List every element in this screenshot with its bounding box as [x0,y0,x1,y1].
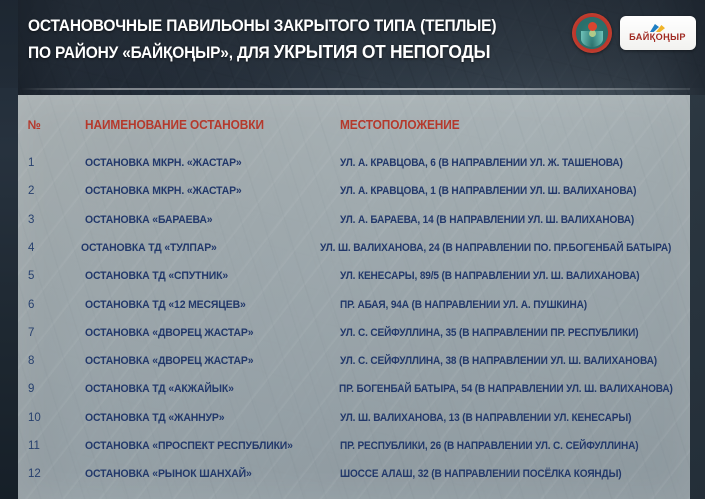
row-location: УЛ. Ш. ВАЛИХАНОВА, 13 (В НАПРАВЛЕНИИ УЛ.… [340,412,673,424]
row-number: 1 [18,157,85,169]
row-stop-name: ОСТАНОВКА ТД «ТУЛПАР» [81,242,308,254]
row-stop-name: ОСТАНОВКА «БАРАЕВА» [85,214,327,226]
row-number: 8 [18,355,85,367]
row-location: ПР. АБАЯ, 94А (В НАПРАВЛЕНИИ УЛ. А. ПУШК… [340,299,673,311]
table-row: 1ОСТАНОВКА МКРН. «ЖАСТАР»УЛ. А. КРАВЦОВА… [18,149,690,177]
row-location: ШОССЕ АЛАШ, 32 (В НАПРАВЛЕНИИ ПОСЁЛКА КО… [340,468,673,480]
title-line-2: ПО РАЙОНУ «БАЙҚОҢЫР», ДЛЯ УКРЫТИЯ ОТ НЕП… [28,39,536,66]
row-number: 7 [18,327,85,339]
right-edge-strip [690,95,705,499]
logo-group: БАЙҚОҢЫР [572,13,696,53]
table-row: 2ОСТАНОВКА МКРН. «ЖАСТАР»УЛ. А. КРАВЦОВА… [18,177,690,205]
row-location: УЛ. С. СЕЙФУЛЛИНА, 38 (В НАПРАВЛЕНИИ УЛ.… [340,355,673,367]
row-location: УЛ. А. КРАВЦОВА, 6 (В НАПРАВЛЕНИИ УЛ. Ж.… [340,157,673,169]
row-stop-name: ОСТАНОВКА ТД «12 МЕСЯЦЕВ» [85,299,327,311]
poster-root: ОСТАНОВОЧНЫЕ ПАВИЛЬОНЫ ЗАКРЫТОГО ТИПА (Т… [0,0,705,499]
baikonur-logo-text: БАЙҚОҢЫР [630,32,687,43]
row-stop-name: ОСТАНОВКА «ПРОСПЕКТ РЕСПУБЛИКИ» [85,440,327,452]
table-row: 4ОСТАНОВКА ТД «ТУЛПАР»УЛ. Ш. ВАЛИХАНОВА,… [18,234,690,262]
table-row: 8ОСТАНОВКА «ДВОРЕЦ ЖАСТАР»УЛ. С. СЕЙФУЛЛ… [18,347,690,375]
table-row: 3ОСТАНОВКА «БАРАЕВА»УЛ. А. БАРАЕВА, 14 (… [18,206,690,234]
row-number: 3 [18,214,85,226]
row-location: УЛ. КЕНЕСАРЫ, 89/5 (В НАПРАВЛЕНИИ УЛ. Ш.… [340,270,673,282]
column-header-stop-name: НАИМЕНОВАНИЕ ОСТАНОВКИ [85,118,327,132]
baikonur-bird-icon [649,23,667,32]
table-row: 10ОСТАНОВКА ТД «ЖАННУР»УЛ. Ш. ВАЛИХАНОВА… [18,404,690,432]
page-title: ОСТАНОВОЧНЫЕ ПАВИЛЬОНЫ ЗАКРЫТОГО ТИПА (Т… [28,13,568,66]
header-divider [18,88,690,90]
title-line-1: ОСТАНОВОЧНЫЕ ПАВИЛЬОНЫ ЗАКРЫТОГО ТИПА (Т… [28,13,536,39]
table-header-row: №НАИМЕНОВАНИЕ ОСТАНОВКИМЕСТОПОЛОЖЕНИЕ [18,111,690,139]
table-panel: №НАИМЕНОВАНИЕ ОСТАНОВКИМЕСТОПОЛОЖЕНИЕ1ОС… [18,95,690,499]
row-location: УЛ. С. СЕЙФУЛЛИНА, 35 (В НАПРАВЛЕНИИ ПР.… [340,327,673,339]
row-number: 4 [18,242,81,254]
header-band: ОСТАНОВОЧНЫЕ ПАВИЛЬОНЫ ЗАКРЫТОГО ТИПА (Т… [0,0,705,88]
row-stop-name: ОСТАНОВКА ТД «АКЖАЙЫК» [85,383,326,395]
row-number: 6 [18,299,85,311]
table-row: 12ОСТАНОВКА «РЫНОК ШАНХАЙ»ШОССЕ АЛАШ, 32… [18,460,690,488]
row-stop-name: ОСТАНОВКА «ДВОРЕЦ ЖАСТАР» [85,355,327,367]
row-number: 9 [18,383,85,395]
table-row: 5ОСТАНОВКА ТД «СПУТНИК»УЛ. КЕНЕСАРЫ, 89/… [18,262,690,290]
row-stop-name: ОСТАНОВКА МКРН. «ЖАСТАР» [85,157,327,169]
row-stop-name: ОСТАНОВКА «РЫНОК ШАНХАЙ» [85,468,327,480]
row-number: 5 [18,270,85,282]
row-location: УЛ. А. КРАВЦОВА, 1 (В НАПРАВЛЕНИИ УЛ. Ш.… [340,185,673,197]
row-number: 2 [18,185,85,197]
row-number: 12 [18,468,85,480]
row-stop-name: ОСТАНОВКА «ДВОРЕЦ ЖАСТАР» [85,327,327,339]
baikonur-logo: БАЙҚОҢЫР [620,16,696,50]
column-header-number: № [18,118,82,132]
row-stop-name: ОСТАНОВКА ТД «СПУТНИК» [85,270,327,282]
table-row: 9ОСТАНОВКА ТД «АКЖАЙЫК»ПР. БОГЕНБАЙ БАТЫ… [18,375,690,403]
row-location: ПР. РЕСПУБЛИКИ, 26 (В НАПРАВЛЕНИИ УЛ. С.… [340,440,673,452]
title-line-2-emphasis: УКРЫТИЯ ОТ НЕПОГОДЫ [274,41,491,62]
table-row: 6ОСТАНОВКА ТД «12 МЕСЯЦЕВ»ПР. АБАЯ, 94А … [18,291,690,319]
title-line-2-prefix: ПО РАЙОНУ «БАЙҚОҢЫР», ДЛЯ [28,44,274,62]
row-stop-name: ОСТАНОВКА ТД «ЖАННУР» [85,412,327,424]
akimat-emblem-icon [572,13,612,53]
table-row: 7ОСТАНОВКА «ДВОРЕЦ ЖАСТАР»УЛ. С. СЕЙФУЛЛ… [18,319,690,347]
stops-table: №НАИМЕНОВАНИЕ ОСТАНОВКИМЕСТОПОЛОЖЕНИЕ1ОС… [18,95,690,499]
table-row: 11ОСТАНОВКА «ПРОСПЕКТ РЕСПУБЛИКИ»ПР. РЕС… [18,432,690,460]
row-number: 11 [18,440,85,452]
row-number: 10 [18,412,85,424]
row-location: ПР. БОГЕНБАЙ БАТЫРА, 54 (В НАПРАВЛЕНИИ У… [339,383,673,395]
column-header-location: МЕСТОПОЛОЖЕНИЕ [340,118,673,132]
row-location: УЛ. Ш. ВАЛИХАНОВА, 24 (В НАПРАВЛЕНИИ ПО.… [320,242,671,254]
row-location: УЛ. А. БАРАЕВА, 14 (В НАПРАВЛЕНИИ УЛ. Ш.… [340,214,673,226]
row-stop-name: ОСТАНОВКА МКРН. «ЖАСТАР» [85,185,327,197]
